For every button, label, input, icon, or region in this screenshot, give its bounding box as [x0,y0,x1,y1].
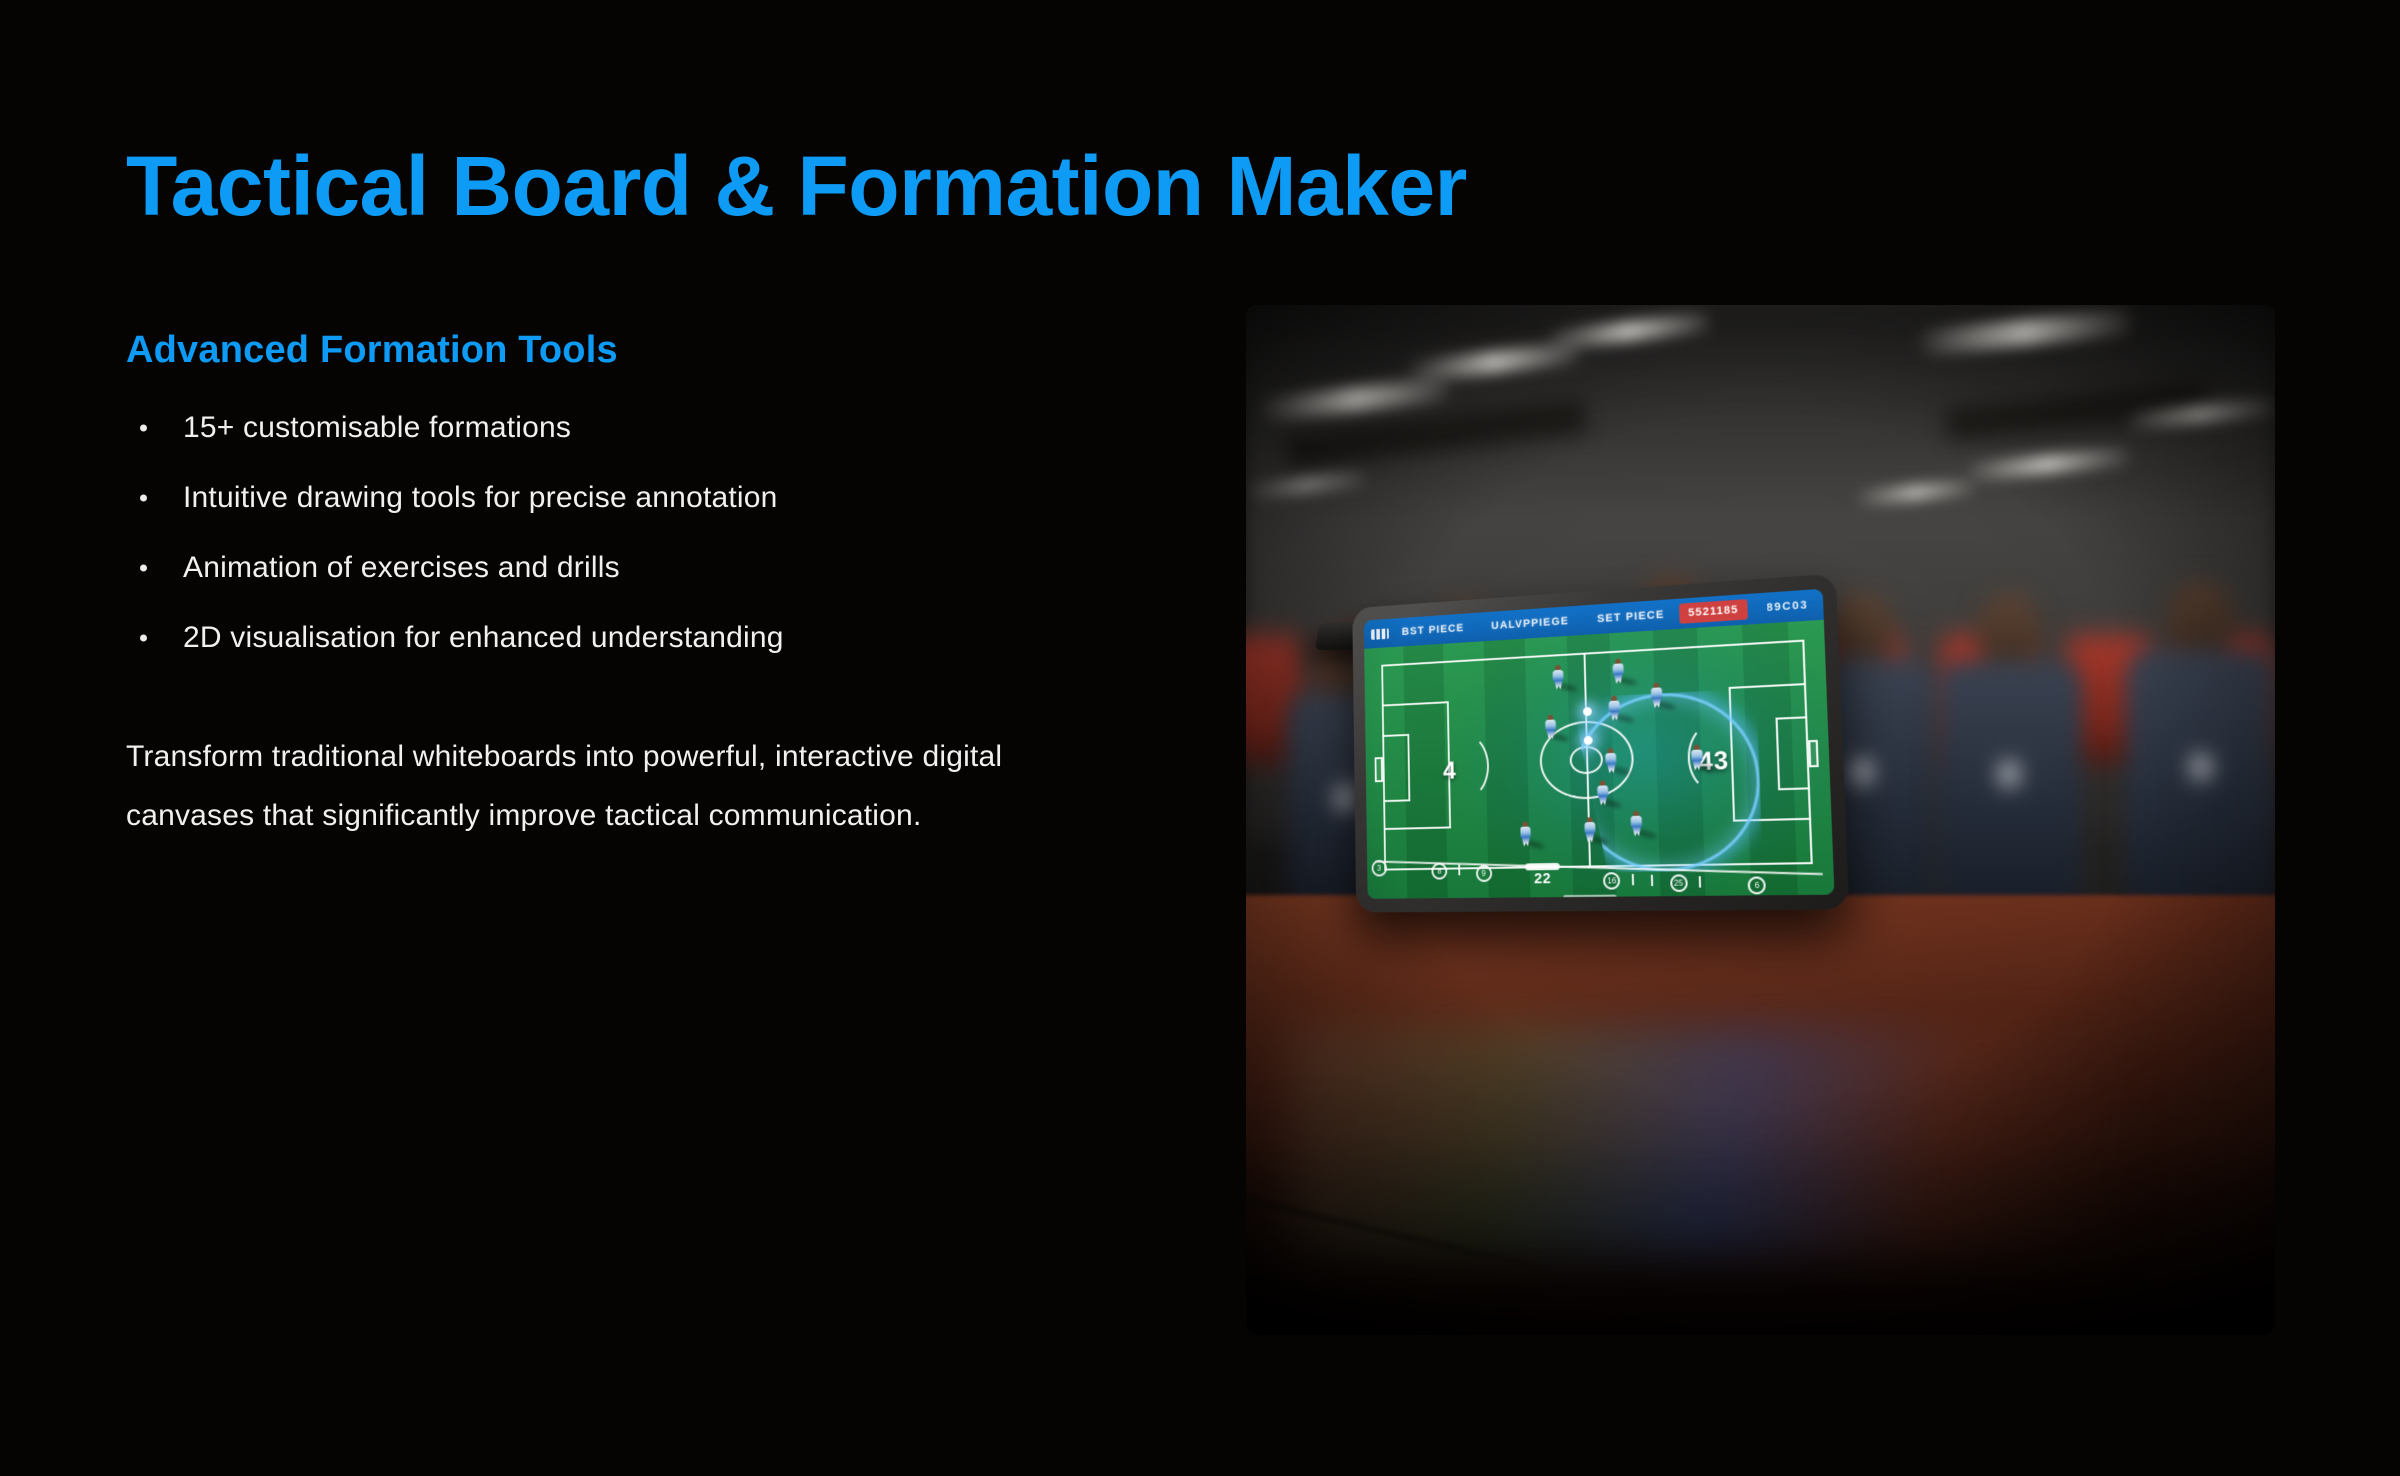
bullet-dot-icon [140,565,147,572]
clock-label: 89C03 [1747,599,1814,616]
goal-right [1808,740,1819,768]
tactical-glow-arc [1571,688,1763,872]
player-token[interactable] [1611,658,1624,685]
list-item: Animation of exercises and drills [126,533,1146,603]
table-reflection [1287,1027,2131,1257]
penalty-arc-right [1687,722,1734,793]
pitch-number-left: 4 [1443,757,1457,786]
body-paragraph: Transform traditional whiteboards into p… [126,727,1136,845]
player-token[interactable] [1608,695,1621,722]
list-item: Intuitive drawing tools for precise anno… [126,463,1146,533]
list-item-label: 15+ customisable formations [183,411,571,445]
list-item: 2D visualisation for enhanced understand… [126,603,1146,673]
goal-box-left [1382,734,1410,803]
player-token[interactable] [1519,822,1532,848]
player-token[interactable] [1552,665,1565,691]
page-title: Tactical Board & Formation Maker [126,142,1467,230]
list-item-label: Intuitive drawing tools for precise anno… [183,481,778,515]
status-badge: 5521185 [1679,599,1748,624]
timeline-node[interactable]: 16 [1603,872,1620,889]
goal-left [1375,757,1383,782]
player-token[interactable] [1544,714,1557,740]
timeline-node[interactable]: 3 [1371,860,1386,877]
timeline-tick [1650,875,1652,886]
timeline-node[interactable]: 8 [1431,863,1447,880]
tactical-node-icon [1583,736,1592,745]
goal-box-right [1776,716,1811,791]
timeline-node[interactable]: 9 [1475,865,1491,882]
tablet-screen[interactable]: BST PIECE UALVPPIEGE SET PIECE 5521185 8… [1364,589,1835,899]
pitch-number-right: 43 [1698,746,1730,777]
player-token[interactable] [1650,683,1664,710]
section-heading: Advanced Formation Tools [126,329,618,372]
timeline-tick [1631,874,1633,885]
timeline-node[interactable]: 6 [1748,876,1766,894]
tactical-pitch[interactable]: 4 43 [1364,620,1834,899]
app-logo-icon [1371,628,1389,640]
player-token[interactable] [1630,811,1644,838]
penalty-box-right [1729,683,1812,822]
timeline-node[interactable]: 25 [1670,874,1688,892]
list-item-label: 2D visualisation for enhanced understand… [183,621,784,655]
timeline-tick [1458,865,1460,876]
home-indicator [1563,895,1616,899]
background-player [2126,580,2275,940]
player-token[interactable] [1583,817,1596,843]
timeline-label: 22 [1534,870,1551,887]
list-item-label: Animation of exercises and drills [183,551,620,585]
list-item: 15+ customisable formations [126,393,1146,463]
bullet-dot-icon [140,495,147,502]
tablet-device: BST PIECE UALVPPIEGE SET PIECE 5521185 8… [1352,573,1849,912]
player-token[interactable] [1690,745,1704,772]
animation-timeline[interactable]: 3 8 9 22 16 25 6 [1367,846,1834,893]
feature-bullet-list: 15+ customisable formations Intuitive dr… [126,393,1146,673]
tablet-bezel: BST PIECE UALVPPIEGE SET PIECE 5521185 8… [1352,573,1849,912]
player-token[interactable] [1596,780,1609,807]
player-token[interactable] [1605,748,1619,775]
bullet-dot-icon [140,425,147,432]
bullet-dot-icon [140,635,147,642]
toolbar-item-2[interactable]: UALVPPIEGE [1478,614,1584,633]
toolbar-item-set-piece[interactable]: SET PIECE [1583,608,1679,626]
timeline-tick [1699,876,1701,887]
background-player [1936,593,2081,938]
toolbar-item-1[interactable]: BST PIECE [1389,621,1478,638]
feature-photo: BST PIECE UALVPPIEGE SET PIECE 5521185 8… [1246,305,2275,1335]
center-spot [1569,745,1603,774]
